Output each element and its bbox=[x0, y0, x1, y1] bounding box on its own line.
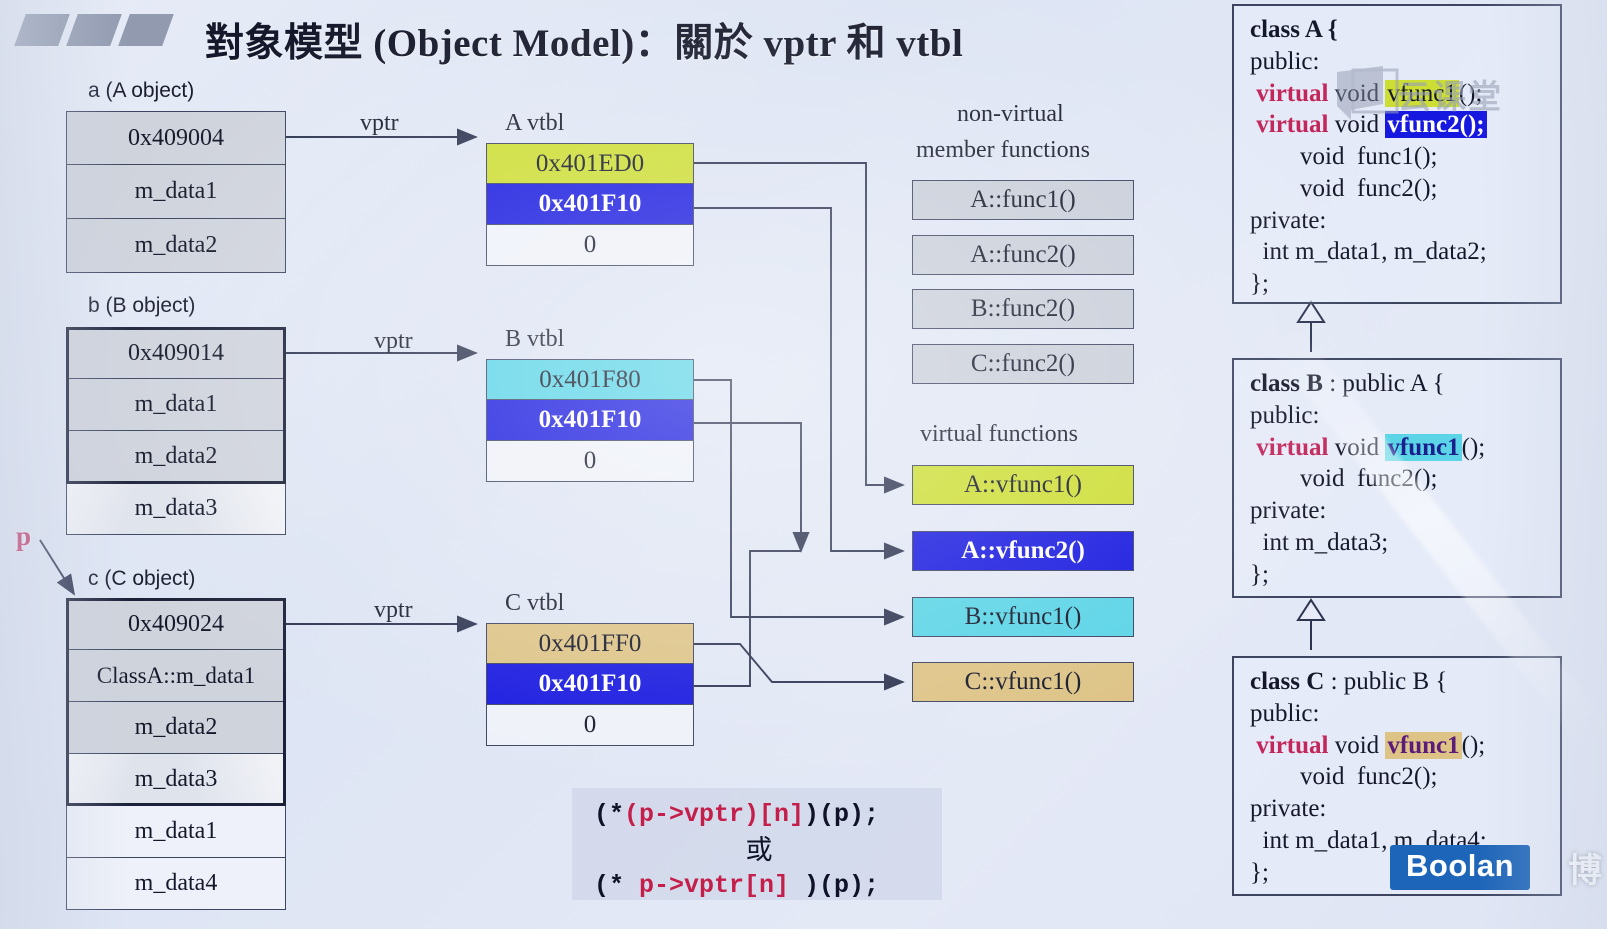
class-a-access-public: public: bbox=[1250, 46, 1548, 78]
object-b-row-3: m_data3 bbox=[66, 483, 286, 535]
slide-title: 對象模型 (Object Model)：關於 vptr 和 vtbl bbox=[205, 12, 963, 68]
nonvirtual-heading-line2: member functions bbox=[916, 137, 1090, 164]
a-vtbl-slot-1: 0x401F10 bbox=[486, 184, 694, 225]
class-b-close: }; bbox=[1250, 559, 1548, 591]
boolan-logo: Boolan bbox=[1390, 845, 1530, 890]
class-c-vfunc1-name: vfunc1 bbox=[1385, 732, 1461, 759]
class-a-virtual-kw-1: virtual bbox=[1256, 80, 1328, 107]
object-a-caption: a (A object) bbox=[88, 79, 194, 103]
deco-bar-3 bbox=[118, 14, 174, 46]
object-b-box: 0x409014 m_data1 m_data2 m_data3 bbox=[66, 327, 286, 535]
class-a-vfunc2-name: vfunc2(); bbox=[1385, 111, 1486, 138]
class-b-name: class B bbox=[1250, 370, 1323, 397]
virtualfns-chip-3: C::vfunc1() bbox=[912, 662, 1134, 702]
object-c-vptr-label: vptr bbox=[374, 597, 413, 624]
class-b-member-func2: void func2(); bbox=[1250, 463, 1548, 495]
object-a-row-1: m_data1 bbox=[66, 165, 286, 219]
class-b-panel: class B : public A { public: virtual voi… bbox=[1232, 358, 1562, 598]
object-a-box: 0x409004 m_data1 m_data2 bbox=[66, 111, 286, 273]
c-vtbl-box: 0x401FF0 0x401F10 0 bbox=[486, 623, 694, 746]
class-b-access-private: private: bbox=[1250, 495, 1548, 527]
class-b-vfunc1-name: vfunc1 bbox=[1385, 434, 1461, 461]
vcall-line-1: (*(p->vptr)[n])(p); bbox=[594, 798, 924, 832]
virtualfns-chip-2: B::vfunc1() bbox=[912, 597, 1134, 637]
nonvirtual-chip-1: A::func2() bbox=[912, 235, 1134, 275]
object-c-row-1: ClassA::m_data1 bbox=[66, 650, 286, 702]
vcall-line2-pre: (* bbox=[594, 871, 639, 900]
vcall-line2-post: )(p); bbox=[789, 871, 879, 900]
class-b-header: class B : public A { bbox=[1250, 368, 1548, 400]
object-a-row-vptr: 0x409004 bbox=[66, 111, 286, 165]
object-c-row-4: m_data1 bbox=[66, 806, 286, 858]
object-a-row-2: m_data2 bbox=[66, 219, 286, 273]
class-c-virtual-kw: virtual bbox=[1256, 732, 1328, 759]
vcall-line1-post: )(p); bbox=[804, 800, 879, 829]
vcall-line-2: (* p->vptr[n] )(p); bbox=[594, 869, 924, 903]
virtualfns-chip-0: A::vfunc1() bbox=[912, 465, 1134, 505]
b-vtbl-caption: B vtbl bbox=[505, 326, 564, 353]
class-a-data-members: int m_data1, m_data2; bbox=[1250, 236, 1548, 268]
object-b-row-1: m_data1 bbox=[66, 379, 286, 431]
b-vtbl-slot-1: 0x401F10 bbox=[486, 400, 694, 441]
object-c-row-5: m_data4 bbox=[66, 858, 286, 910]
class-c-name: class C bbox=[1250, 668, 1324, 695]
class-a-close: }; bbox=[1250, 268, 1548, 300]
vcall-line2-red: p->vptr[n] bbox=[639, 871, 789, 900]
object-c-row-3: m_data3 bbox=[66, 754, 286, 806]
nonvirtual-chip-0: A::func1() bbox=[912, 180, 1134, 220]
class-a-member-vfunc2: virtual void vfunc2(); bbox=[1250, 109, 1548, 141]
vcall-line1-pre: (* bbox=[594, 800, 624, 829]
class-a-member-func1: void func1(); bbox=[1250, 141, 1548, 173]
class-c-header: class C : public B { bbox=[1250, 666, 1548, 698]
a-vtbl-box: 0x401ED0 0x401F10 0 bbox=[486, 143, 694, 266]
a-vtbl-slot-2: 0 bbox=[486, 225, 694, 266]
object-b-row-vptr: 0x409014 bbox=[66, 327, 286, 379]
pointer-p-label: p bbox=[16, 521, 31, 552]
object-b-row-2: m_data2 bbox=[66, 431, 286, 483]
class-b-virtual-kw: virtual bbox=[1256, 434, 1328, 461]
vcall-expression-panel: (*(p->vptr)[n])(p); 或 (* p->vptr[n] )(p)… bbox=[572, 788, 942, 900]
object-c-caption: c (C object) bbox=[88, 567, 195, 591]
class-c-member-vfunc1: virtual void vfunc1(); bbox=[1250, 730, 1548, 762]
a-vtbl-caption: A vtbl bbox=[505, 110, 564, 137]
c-vtbl-caption: C vtbl bbox=[505, 590, 564, 617]
nonvirtual-heading-line1: non-virtual bbox=[957, 101, 1064, 128]
class-a-header: class A { bbox=[1250, 14, 1548, 46]
object-c-box: 0x409024 ClassA::m_data1 m_data2 m_data3… bbox=[66, 598, 286, 910]
nonvirtual-chip-2: B::func2() bbox=[912, 289, 1134, 329]
nonvirtual-chip-3: C::func2() bbox=[912, 344, 1134, 384]
class-b-data-members: int m_data3; bbox=[1250, 527, 1548, 559]
object-b-caption: b (B object) bbox=[88, 294, 195, 318]
b-vtbl-box: 0x401F80 0x401F10 0 bbox=[486, 359, 694, 482]
object-a-vptr-label: vptr bbox=[360, 110, 399, 137]
object-c-row-vptr: 0x409024 bbox=[66, 598, 286, 650]
class-b-access-public: public: bbox=[1250, 400, 1548, 432]
b-vtbl-slot-2: 0 bbox=[486, 441, 694, 482]
class-a-access-private: private: bbox=[1250, 205, 1548, 237]
deco-bar-1 bbox=[14, 14, 70, 46]
c-vtbl-slot-2: 0 bbox=[486, 705, 694, 746]
class-a-member-func2: void func2(); bbox=[1250, 173, 1548, 205]
class-c-access-private: private: bbox=[1250, 793, 1548, 825]
corner-decoration bbox=[14, 14, 194, 54]
class-a-panel: class A { public: virtual void vfunc1();… bbox=[1232, 4, 1562, 304]
class-b-member-vfunc1: virtual void vfunc1(); bbox=[1250, 432, 1548, 464]
bo-character-logo: 博 bbox=[1568, 843, 1602, 892]
deco-bar-2 bbox=[66, 14, 122, 46]
c-vtbl-slot-1: 0x401F10 bbox=[486, 664, 694, 705]
class-a-vfunc1-name: vfunc1 bbox=[1385, 80, 1458, 107]
b-vtbl-slot-0: 0x401F80 bbox=[486, 359, 694, 400]
class-c-member-func2: void func2(); bbox=[1250, 761, 1548, 793]
vcall-line1-red: (p->vptr)[n] bbox=[624, 800, 804, 829]
class-a-member-vfunc1: virtual void vfunc1(); bbox=[1250, 78, 1548, 110]
vcall-or-label: 或 bbox=[594, 832, 924, 869]
object-b-vptr-label: vptr bbox=[374, 328, 413, 355]
virtualfns-heading: virtual functions bbox=[920, 421, 1078, 448]
object-c-row-2: m_data2 bbox=[66, 702, 286, 754]
c-vtbl-slot-0: 0x401FF0 bbox=[486, 623, 694, 664]
a-vtbl-slot-0: 0x401ED0 bbox=[486, 143, 694, 184]
class-a-virtual-kw-2: virtual bbox=[1256, 111, 1328, 138]
virtualfns-chip-1: A::vfunc2() bbox=[912, 531, 1134, 571]
class-c-access-public: public: bbox=[1250, 698, 1548, 730]
